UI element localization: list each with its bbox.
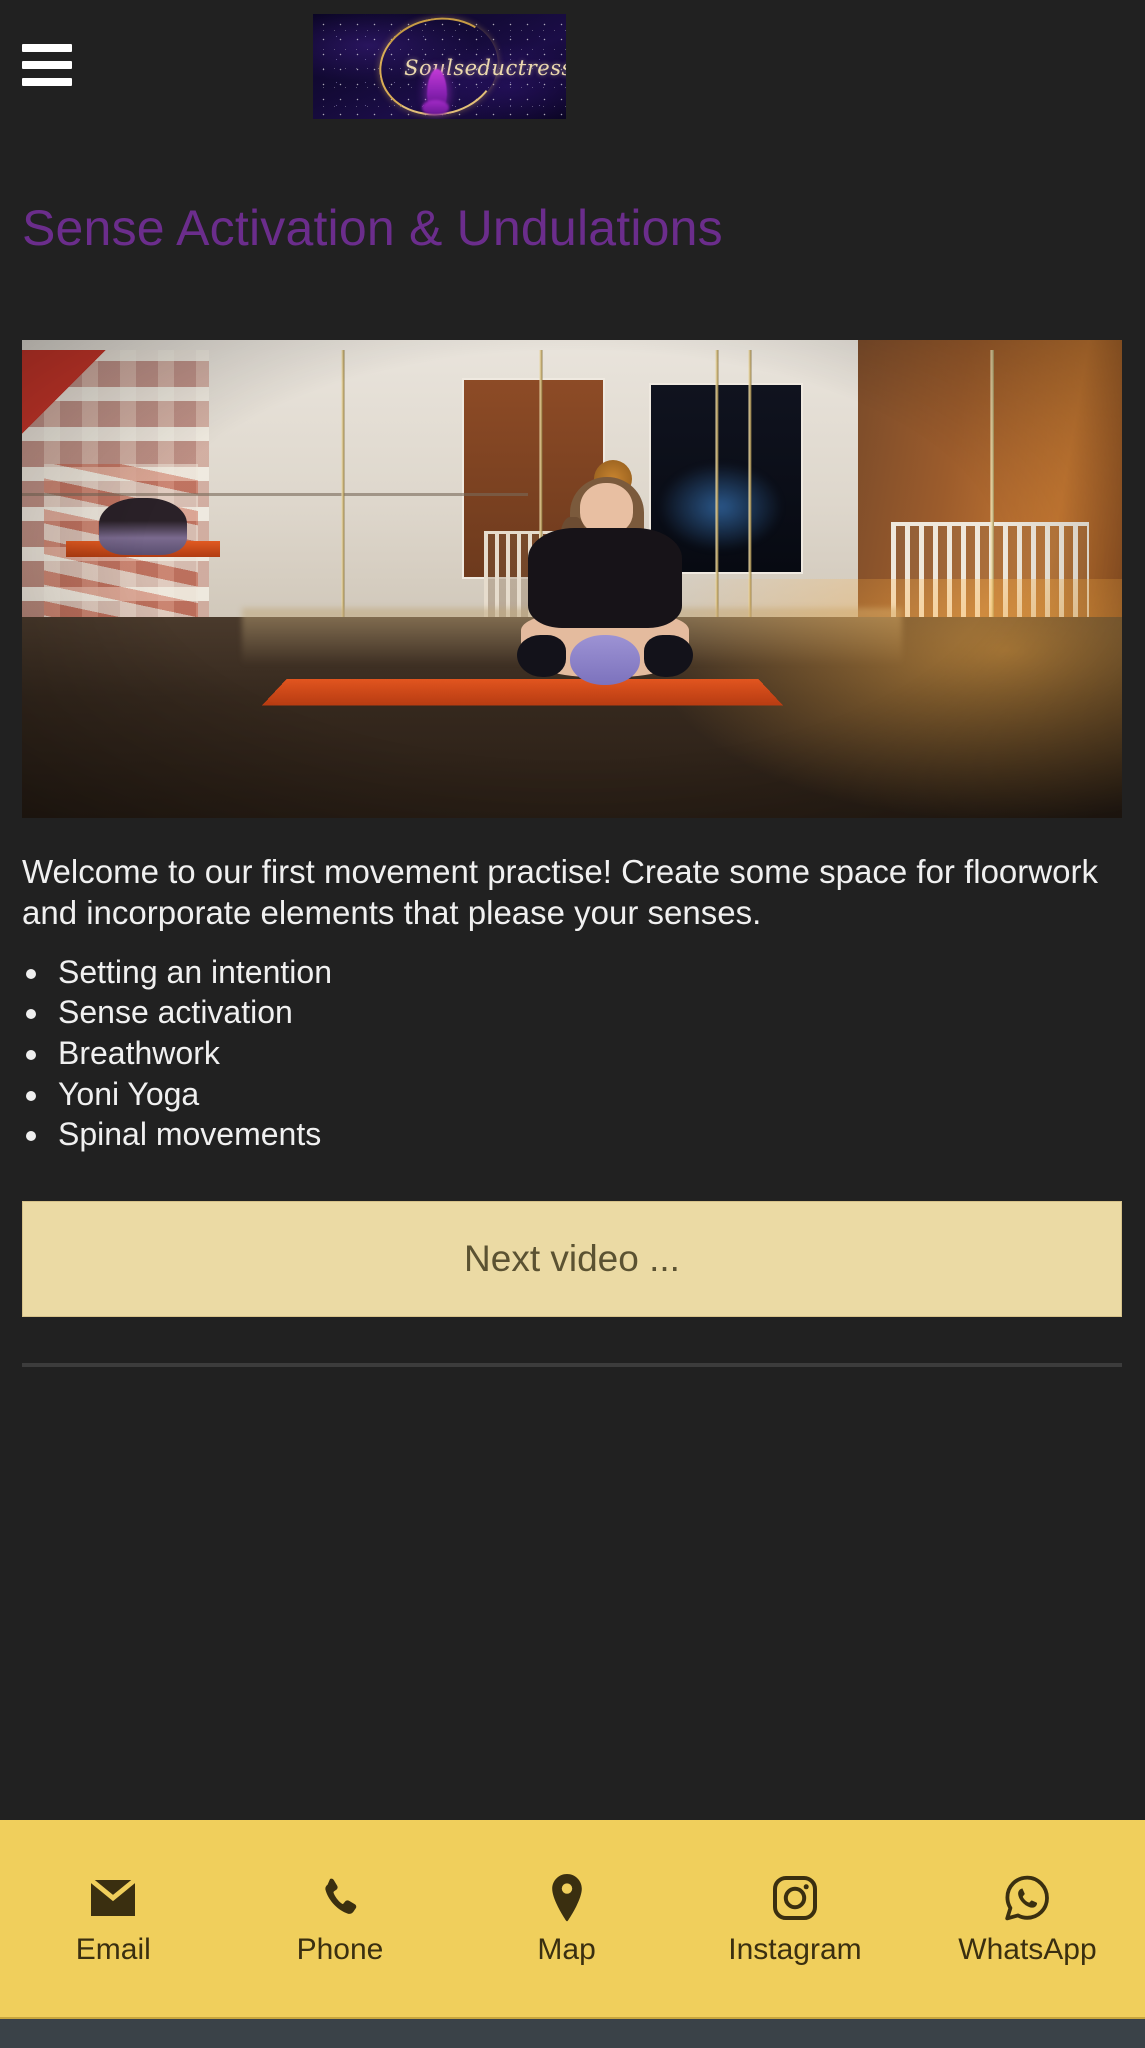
hero-video-thumbnail[interactable] [22, 340, 1122, 818]
list-item: Sense activation [52, 992, 1145, 1033]
main-content: Sense Activation & Undulations [0, 201, 1145, 1367]
hamburger-bar-1 [22, 44, 72, 52]
hamburger-menu-icon[interactable] [22, 44, 72, 86]
contact-item-phone[interactable]: Phone [275, 1873, 405, 1965]
image-vignette [22, 340, 1122, 818]
list-item: Setting an intention [52, 952, 1145, 993]
logo-brand-text: Soulseductress [404, 56, 566, 80]
list-item: Breathwork [52, 1033, 1145, 1074]
contact-bar: Email Phone Map Instagram [0, 1820, 1145, 2019]
envelope-icon [88, 1873, 138, 1923]
phone-icon [315, 1873, 365, 1923]
page-title: Sense Activation & Undulations [22, 201, 1145, 256]
intro-paragraph: Welcome to our first movement practise! … [22, 852, 1112, 934]
hamburger-bar-3 [22, 78, 72, 86]
contact-item-whatsapp[interactable]: WhatsApp [958, 1873, 1096, 1965]
contact-label: Instagram [728, 1935, 861, 1965]
list-item: Spinal movements [52, 1114, 1145, 1155]
list-item: Yoni Yoga [52, 1074, 1145, 1115]
next-video-button[interactable]: Next video ... [22, 1201, 1122, 1317]
contact-label: Map [537, 1935, 595, 1965]
instagram-icon [770, 1873, 820, 1923]
contact-label: Email [76, 1935, 151, 1965]
section-divider [22, 1363, 1122, 1367]
site-header: Soulseductress [0, 0, 1145, 133]
contact-label: Phone [297, 1935, 384, 1965]
logo-silhouette-icon [427, 69, 447, 111]
hamburger-bar-2 [22, 61, 72, 69]
feature-list: Setting an intention Sense activation Br… [52, 952, 1145, 1155]
contact-item-map[interactable]: Map [502, 1873, 632, 1965]
contact-label: WhatsApp [958, 1935, 1096, 1965]
whatsapp-icon [1002, 1873, 1052, 1923]
map-pin-icon [542, 1873, 592, 1923]
bottom-system-strip [0, 2019, 1145, 2048]
contact-item-email[interactable]: Email [48, 1873, 178, 1965]
contact-item-instagram[interactable]: Instagram [728, 1873, 861, 1965]
site-logo[interactable]: Soulseductress [313, 14, 566, 119]
